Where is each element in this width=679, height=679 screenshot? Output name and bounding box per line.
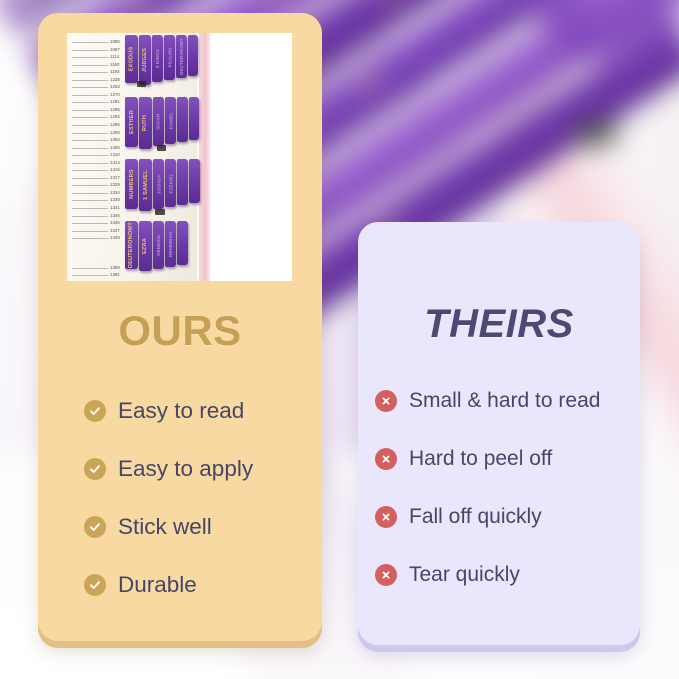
check-circle-icon [84,400,106,422]
x-circle-icon [375,564,397,586]
photo-page-number: 1300 [110,129,120,137]
photo-tab [177,159,188,205]
list-item: Easy to read [84,396,253,425]
check-circle-icon [84,574,106,596]
photo-index-gap [72,242,130,264]
photo-index-row: 1346 [72,219,130,227]
photo-index-lines: 1085108711141160119312381253127012811286… [72,38,130,279]
check-circle-icon [84,458,106,480]
photo-tab: EZRA [139,221,152,271]
photo-page-number: 1381 [110,271,120,279]
list-item: Fall off quickly [375,502,600,531]
photo-page-number: 1253 [110,83,120,91]
photo-tab-shadow [137,81,146,87]
photo-page-number: 1369 [110,264,120,272]
list-item: Small & hard to read [375,386,600,415]
photo-index-row: 1292 [72,113,130,121]
photo-page-number: 1193 [110,68,119,76]
photo-page-number: 1296 [110,121,120,129]
photo-index-row: 1341 [72,204,130,212]
photo-index-row: 1349 [72,234,130,242]
photo-page-number: 1329 [110,181,120,189]
photo-tab: EZEKIEL [165,159,176,207]
photo-tab: JUDGES [139,35,151,85]
photo-tab-group-4: DEUTERONOMY EZRA GENESIS NEHEMIAH [125,221,188,271]
photo-white-page [210,33,292,281]
comparison-infographic: 1085108711141160119312381253127012811286… [0,0,679,679]
photo-index-row: 1338 [72,196,130,204]
photo-index-row: 1270 [72,91,130,99]
photo-tab: DEUTERONOMY [125,221,138,269]
photo-tab: DANIEL [165,97,176,144]
check-circle-icon [84,516,106,538]
photo-index-row: 1238 [72,76,130,84]
photo-page-number: 1306 [110,144,120,152]
feature-label: Hard to peel off [409,447,552,471]
photo-index-row: 1281 [72,98,130,106]
photo-page-number: 1304 [110,136,120,144]
x-circle-icon [375,506,397,528]
photo-page-number: 1338 [110,196,120,204]
photo-page-number: 1316 [110,166,120,174]
photo-index-row: 1286 [72,106,130,114]
photo-index-row: 1314 [72,159,130,167]
photo-page-number: 1085 [110,38,120,46]
list-item: Durable [84,570,253,599]
list-item: Tear quickly [375,560,600,589]
list-item: Hard to peel off [375,444,600,473]
photo-tab: ESTHER [125,97,138,147]
photo-index-row: 1085 [72,38,130,46]
photo-tab: EXODUS [125,35,138,83]
photo-index-row: 1160 [72,61,130,69]
photo-tab [188,35,198,76]
photo-page-number: 1286 [110,106,120,114]
feature-label: Easy to read [118,398,244,424]
x-circle-icon [375,390,397,412]
photo-tab-group-1: EXODUS JUDGES 2 KINGS PSALMS DEUTERONOMY [125,35,198,85]
photo-index-row: 1114 [72,53,130,61]
feature-label: Fall off quickly [409,505,542,529]
photo-page-number: 1114 [110,53,119,61]
photo-index-row: 1346 [72,212,130,220]
photo-index-row: 1381 [72,271,130,279]
list-item: Easy to apply [84,454,253,483]
photo-tab [177,221,188,265]
photo-page-number: 1160 [110,61,119,69]
photo-tab [177,97,188,142]
photo-index-row: 1329 [72,181,130,189]
theirs-feature-list: Small & hard to read Hard to peel off Fa… [375,386,600,589]
photo-page-number: 1341 [110,204,120,212]
photo-tab-shadow [155,209,165,215]
photo-tab: NEHEMIAH [165,221,176,267]
ours-card: 1085108711141160119312381253127012811286… [38,13,322,641]
photo-tab: RUTH [139,97,152,149]
photo-tab-group-3: NUMBERS 1 SAMUEL JOSHUA EZEKIEL [125,159,200,211]
photo-page-number: 1334 [110,189,120,197]
photo-index-row: 1304 [72,136,130,144]
photo-tab: JOSHUA [153,159,164,209]
photo-index-row: 1369 [72,264,130,272]
photo-page-number: 1314 [110,159,120,167]
photo-tab [189,159,200,203]
theirs-card: THEIRS Small & hard to read Hard to peel… [358,222,640,645]
feature-label: Easy to apply [118,456,253,482]
photo-tab-group-2: ESTHER RUTH ISAIAH DANIEL [125,97,199,149]
x-circle-icon [375,448,397,470]
photo-page-number: 1292 [110,113,120,121]
photo-index-row: 1310 [72,151,130,159]
photo-index-row: 1316 [72,166,130,174]
photo-tab: ISAIAH [153,97,164,146]
photo-page-number: 1238 [110,76,120,84]
ours-title: OURS [38,307,322,355]
photo-page-number: 1349 [110,234,120,242]
photo-index-row: 1334 [72,189,130,197]
photo-index-row: 1296 [72,121,130,129]
photo-tab: DEUTERONOMY [176,35,187,78]
photo-page-number: 1346 [110,219,120,227]
photo-index-row: 1300 [72,129,130,137]
photo-tab [189,97,199,140]
photo-page-number: 1347 [110,227,120,235]
photo-index-row: 1253 [72,83,130,91]
photo-pink-edge [199,33,210,281]
photo-page-number: 1346 [110,212,120,220]
photo-page-number: 1270 [110,91,120,99]
photo-tab: NUMBERS [125,159,138,209]
photo-tab: 1 SAMUEL [139,159,152,211]
photo-tab: 2 KINGS [152,35,163,82]
photo-page-number: 1281 [110,98,120,106]
photo-page-number: 1317 [110,174,120,182]
feature-label: Durable [118,572,197,598]
photo-page-number: 1310 [110,151,120,159]
product-photo: 1085108711141160119312381253127012811286… [67,33,292,281]
photo-tab-shadow [157,145,166,151]
photo-index-row: 1317 [72,174,130,182]
photo-index-row: 1347 [72,227,130,235]
feature-label: Small & hard to read [409,389,600,413]
feature-label: Tear quickly [409,563,520,587]
photo-tab: PSALMS [164,35,175,80]
list-item: Stick well [84,512,253,541]
photo-page-number: 1087 [110,46,120,54]
photo-tab: GENESIS [153,221,164,269]
photo-index-row: 1306 [72,144,130,152]
feature-label: Stick well [118,514,212,540]
photo-index-row: 1087 [72,46,130,54]
ours-feature-list: Easy to read Easy to apply Stick well Du… [84,396,253,599]
photo-index-row: 1193 [72,68,130,76]
theirs-title: THEIRS [358,302,640,347]
